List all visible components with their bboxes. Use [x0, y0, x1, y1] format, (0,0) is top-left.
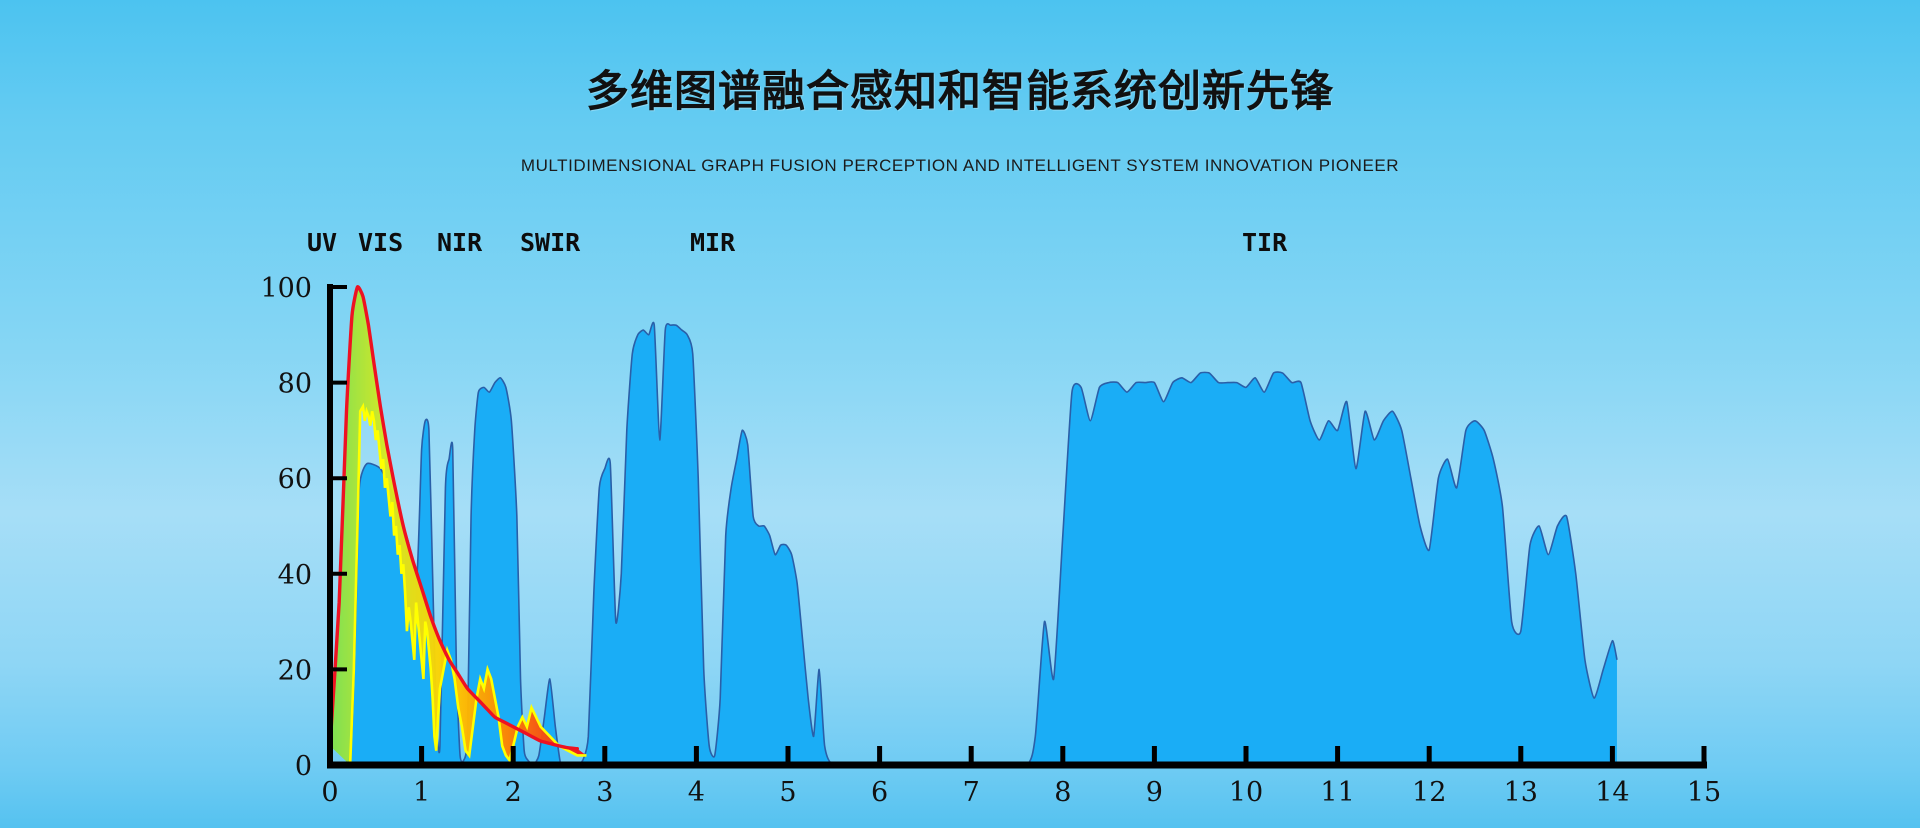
x-tick-label: 5 [779, 777, 796, 808]
x-tick-label: 0 [321, 777, 338, 808]
spectral-transmittance-chart: 0204060801000123456789101112131415 [0, 0, 1920, 828]
y-tick-label: 80 [278, 369, 312, 400]
x-tick-label: 9 [1146, 777, 1163, 808]
x-tick-label: 10 [1229, 777, 1263, 808]
x-tick-label: 15 [1687, 777, 1721, 808]
x-tick-label: 4 [688, 777, 705, 808]
y-tick-label: 20 [278, 655, 312, 686]
x-tick-label: 3 [596, 777, 613, 808]
x-tick-label: 1 [413, 777, 430, 808]
x-tick-label: 14 [1595, 777, 1629, 808]
x-tick-label: 2 [505, 777, 522, 808]
x-tick-label: 11 [1320, 777, 1354, 808]
poster-canvas: 多维图谱融合感知和智能系统创新先锋 MULTIDIMENSIONAL GRAPH… [0, 0, 1920, 828]
x-tick-label: 13 [1504, 777, 1538, 808]
y-tick-label: 60 [278, 464, 312, 495]
y-tick-label: 100 [260, 273, 312, 304]
x-tick-label: 8 [1054, 777, 1071, 808]
y-tick-label: 0 [295, 751, 312, 782]
y-tick-label: 40 [278, 560, 312, 591]
x-tick-label: 7 [963, 777, 980, 808]
x-tick-label: 12 [1412, 777, 1446, 808]
x-tick-label: 6 [871, 777, 888, 808]
transmittance-area-layer [330, 322, 1617, 766]
transmittance-area [330, 322, 1617, 766]
